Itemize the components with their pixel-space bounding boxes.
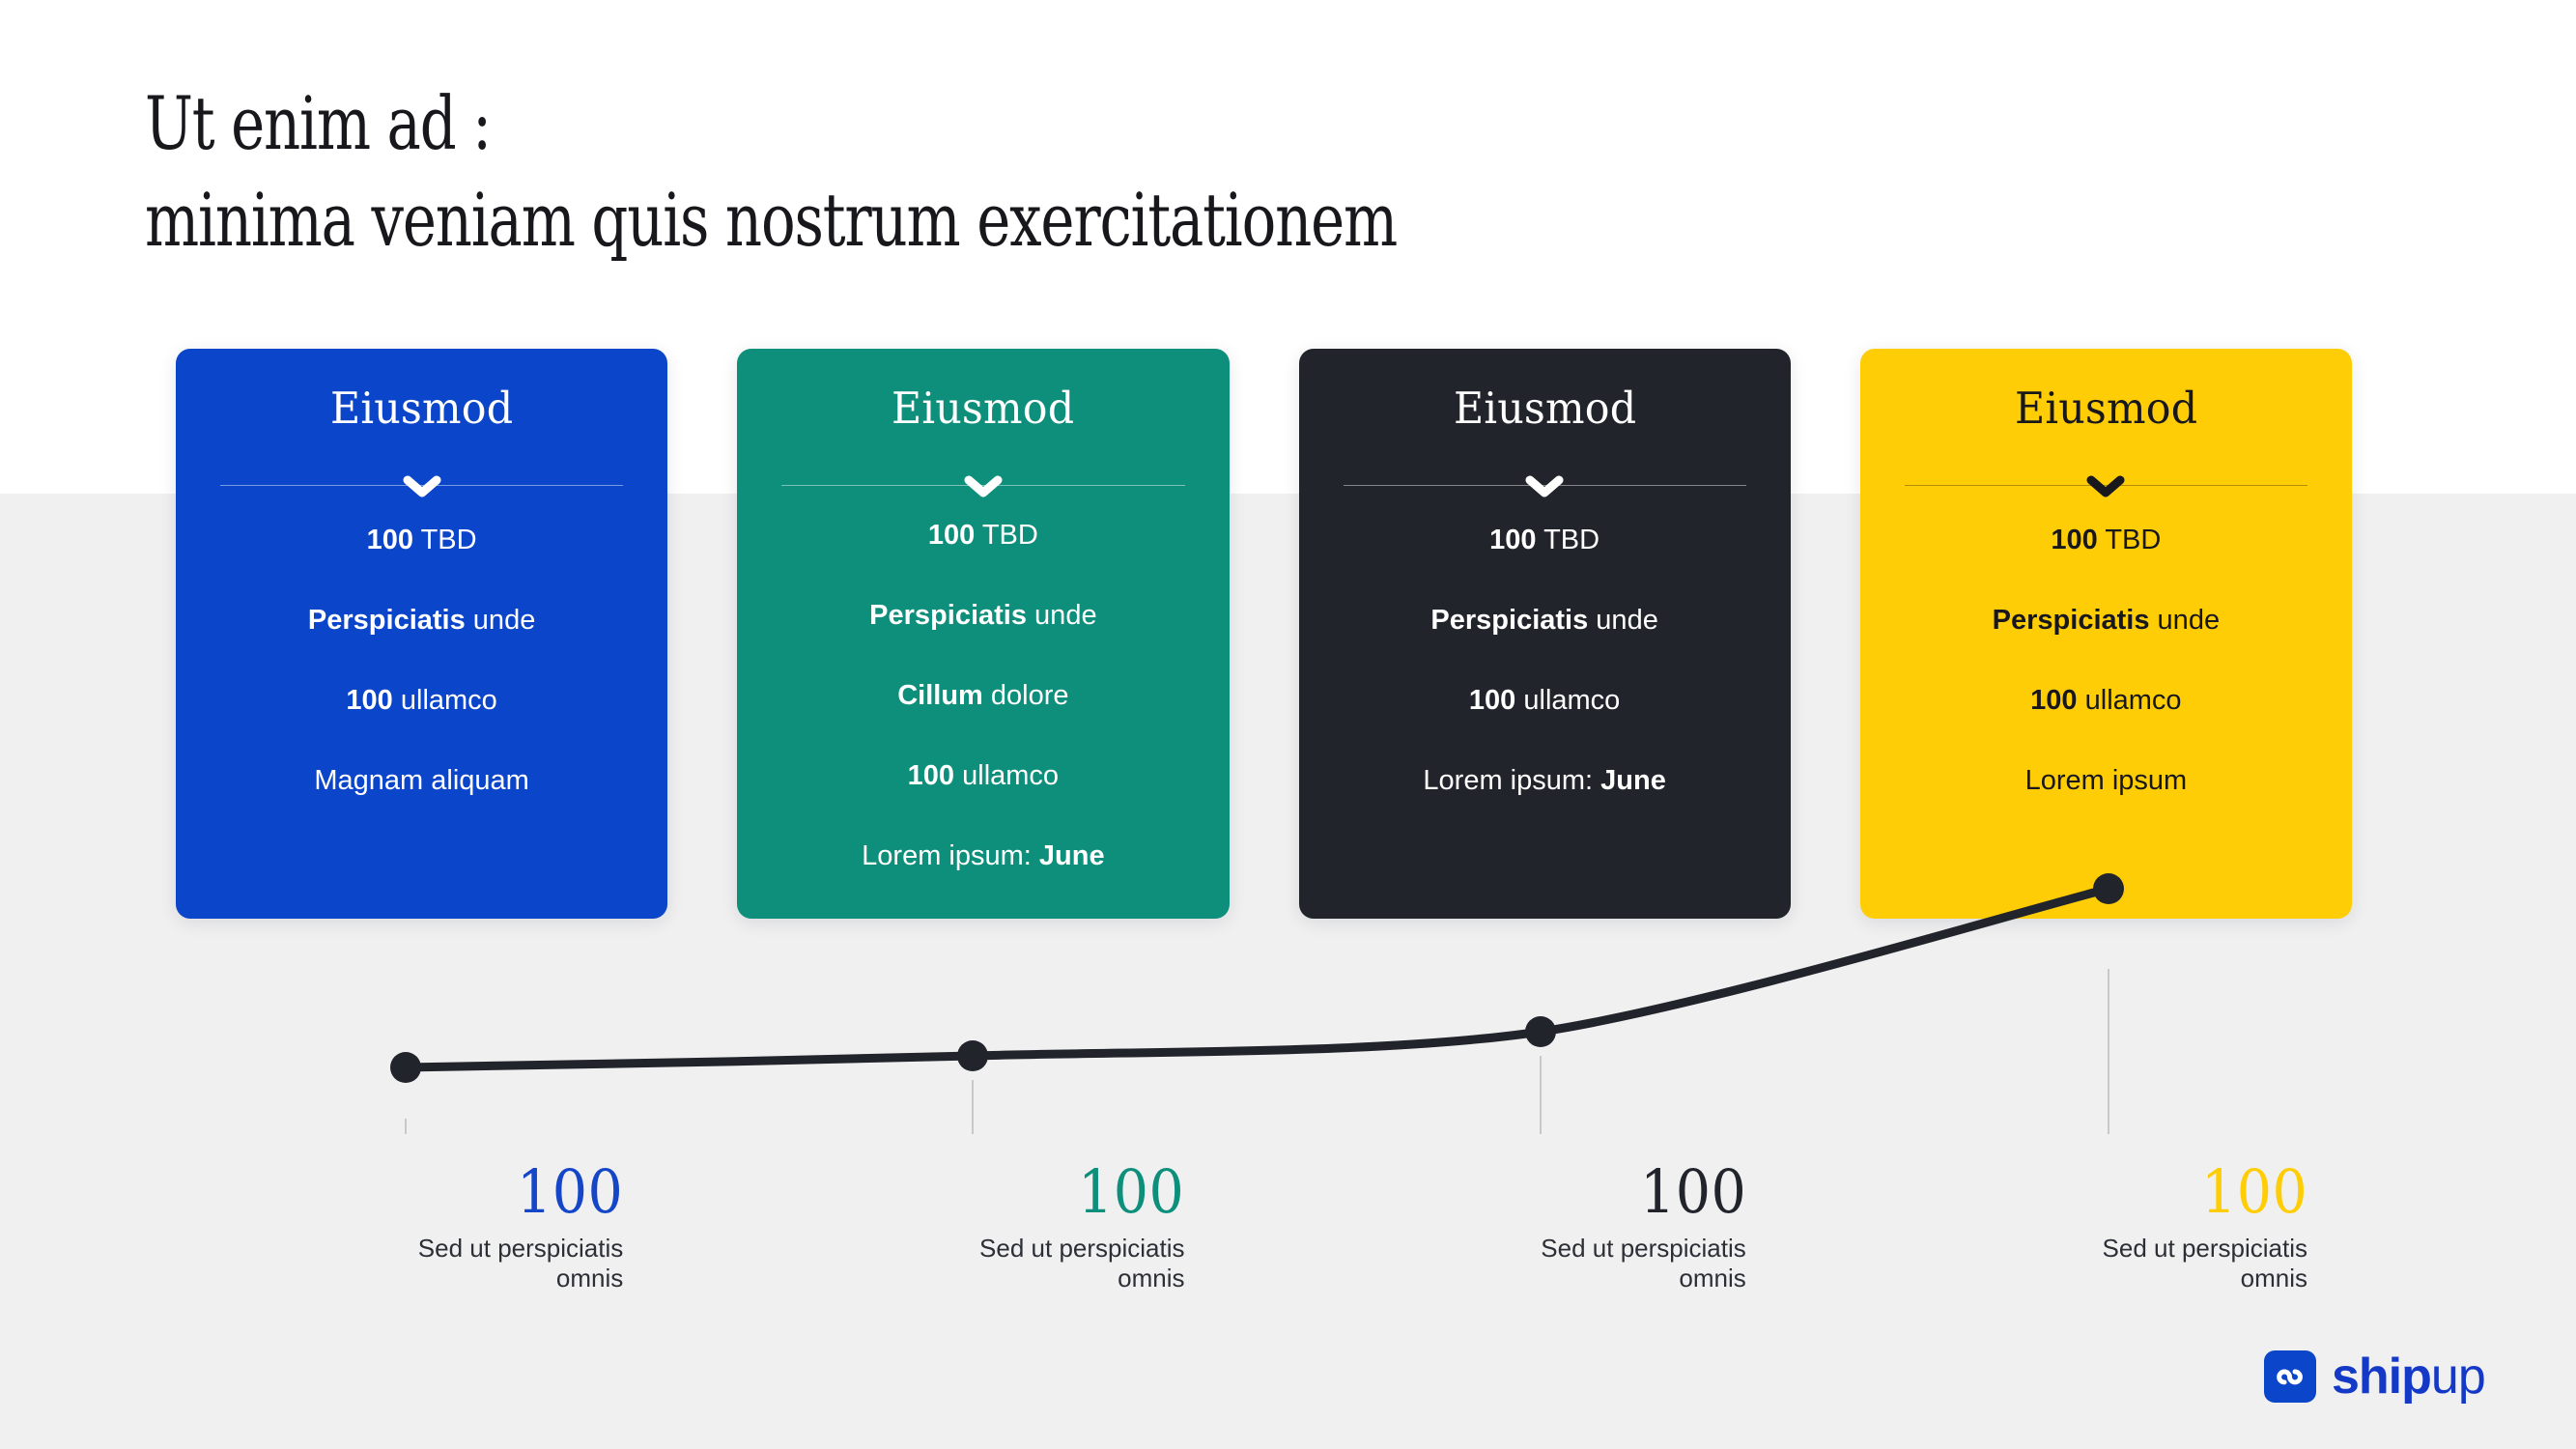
card-row: 100 TBD [1885,523,2327,557]
card-row-strong: 100 [928,520,975,551]
stat-value: 100 [1896,1159,2307,1225]
card-rows: 100 TBD Perspiciatis unde 100 ullamco Ma… [201,523,642,843]
card-divider [762,472,1203,512]
card-row: Lorem ipsum: June [1324,763,1766,798]
card-row: 100 TBD [1324,523,1766,557]
stat-label: Sed ut perspiciatis omnis [958,1234,1185,1293]
stat-label: Sed ut perspiciatis omnis [2081,1234,2307,1293]
shipup-wordmark: shipup [2332,1351,2485,1402]
card-row-strong: 100 [346,685,392,716]
card-row: Perspiciatis unde [762,598,1203,633]
card-row: 100 ullamco [762,758,1203,793]
card-row-rest: unde [1588,605,1658,636]
card-row: 100 TBD [762,518,1203,553]
card-row: 100 ullamco [201,683,642,718]
card-rows: 100 TBD Perspiciatis unde Cillum dolore … [762,518,1203,919]
card-row-rest: ullamco [954,760,1059,791]
page-title: Ut enim ad : minima veniam quis nostrum … [145,75,1652,269]
card-row-strong-tail: June [1039,840,1105,871]
card-row-rest: TBD [2098,525,2162,555]
stat-block: 100 Sed ut perspiciatis omnis [1299,1159,1791,1293]
card-row-strong: 100 [1469,685,1515,716]
card-row-strong: Perspiciatis [1430,605,1588,636]
card-row: Perspiciatis unde [1885,603,2327,638]
card-divider [1324,472,1766,517]
card-row-strong: 100 [1489,525,1536,555]
card-row: Magnam aliquam [201,763,642,798]
card-row-rest: unde [1027,600,1097,631]
card-row-rest: Lorem ipsum: [862,840,1039,871]
card-title: Eiusmod [212,382,631,436]
card-row: Lorem ipsum [1885,763,2327,798]
card-row-rest: ullamco [393,685,497,716]
card-row-strong: 100 [2030,685,2077,716]
card-row-strong: Cillum [897,680,983,711]
feature-card[interactable]: Eiusmod 100 TBD Perspiciatis unde 100 ul… [1299,349,1791,919]
card-row-rest: Lorem ipsum: [1423,765,1600,796]
feature-card[interactable]: Eiusmod 100 TBD Perspiciatis unde 100 ul… [1860,349,2352,919]
card-row-rest: ullamco [1515,685,1620,716]
card-row-strong: Perspiciatis [308,605,466,636]
stat-block: 100 Sed ut perspiciatis omnis [1860,1159,2352,1293]
stat-block: 100 Sed ut perspiciatis omnis [737,1159,1229,1293]
card-row-rest: Lorem ipsum [2025,765,2188,796]
card-divider [201,472,642,517]
chevron-down-icon [1522,472,1567,501]
stat-value: 100 [212,1159,623,1225]
stat-value: 100 [1335,1159,1746,1225]
feature-card[interactable]: Eiusmod 100 TBD Perspiciatis unde 100 ul… [176,349,667,919]
card-row-rest: TBD [1537,525,1600,555]
card-divider [1885,472,2327,517]
card-row-rest: ullamco [2078,685,2182,716]
card-row-rest: Magnam aliquam [314,765,528,796]
card-title: Eiusmod [1896,382,2315,436]
card-row-rest: TBD [413,525,477,555]
stat-value: 100 [773,1159,1184,1225]
card-row-rest: unde [2150,605,2221,636]
card-row: Lorem ipsum: June [762,838,1203,873]
card-row-rest: TBD [975,520,1038,551]
card-row-strong: 100 [2051,525,2097,555]
stat-block: 100 Sed ut perspiciatis omnis [176,1159,667,1293]
logo-word-up: up [2431,1349,2485,1405]
shipup-infinity-icon [2264,1350,2316,1403]
card-rows: 100 TBD Perspiciatis unde 100 ullamco Lo… [1324,523,1766,843]
card-row-strong: Perspiciatis [1993,605,2150,636]
card-deck: Eiusmod 100 TBD Perspiciatis unde 100 ul… [176,349,2352,919]
shipup-logo[interactable]: shipup [2264,1350,2485,1403]
card-title: Eiusmod [774,382,1193,436]
stat-label: Sed ut perspiciatis omnis [1519,1234,1746,1293]
card-row-rest: dolore [983,680,1069,711]
card-row: 100 ullamco [1324,683,1766,718]
card-row: 100 ullamco [1885,683,2327,718]
logo-word-ship: ship [2332,1349,2431,1405]
card-row-strong-tail: June [1600,765,1666,796]
card-rows: 100 TBD Perspiciatis unde 100 ullamco Lo… [1885,523,2327,843]
chevron-down-icon [961,472,1005,501]
stat-label: Sed ut perspiciatis omnis [396,1234,623,1293]
card-row-rest: unde [466,605,536,636]
card-title: Eiusmod [1335,382,1754,436]
card-row: 100 TBD [201,523,642,557]
stats-row: 100 Sed ut perspiciatis omnis 100 Sed ut… [176,1159,2352,1293]
feature-card[interactable]: Eiusmod 100 TBD Perspiciatis unde Cillum… [737,349,1229,919]
card-row: Cillum dolore [762,678,1203,713]
card-row: Perspiciatis unde [1324,603,1766,638]
card-row-strong: Perspiciatis [869,600,1027,631]
card-row: Perspiciatis unde [201,603,642,638]
card-row-strong: 100 [367,525,413,555]
chevron-down-icon [2083,472,2128,501]
chevron-down-icon [400,472,444,501]
card-row-strong: 100 [908,760,954,791]
